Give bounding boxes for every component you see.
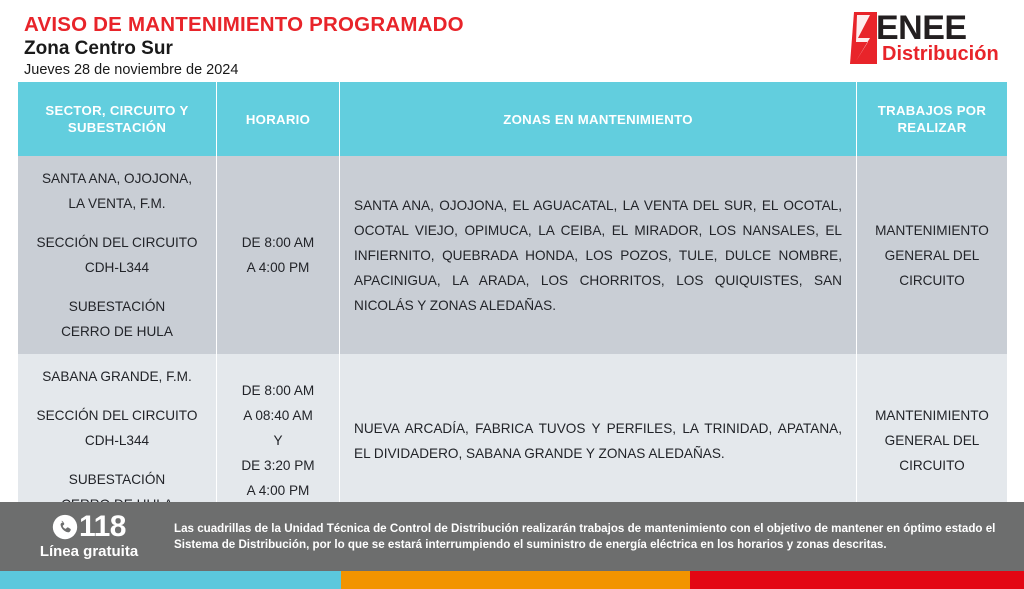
maintenance-table-wrapper: SECTOR, CIRCUITO Y SUBESTACIÓN HORARIO Z… (17, 82, 1007, 527)
column-header-sector: SECTOR, CIRCUITO Y SUBESTACIÓN (18, 82, 216, 156)
phone-icon (52, 514, 78, 540)
colorbar-segment-orange (341, 571, 690, 589)
hotline-number: 118 (79, 512, 126, 542)
page-title: AVISO DE MANTENIMIENTO PROGRAMADO (24, 13, 464, 36)
horario-line: A 08:40 AM (231, 403, 325, 428)
logo-subtitle-text: Distribución (882, 43, 999, 65)
enee-flag-icon (850, 12, 877, 64)
table-body: SANTA ANA, OJOJONA, LA VENTA, F.M. SECCI… (18, 156, 1007, 527)
table-header-row: SECTOR, CIRCUITO Y SUBESTACIÓN HORARIO Z… (18, 82, 1007, 156)
page-footer: 118 Línea gratuita Las cuadrillas de la … (0, 502, 1024, 571)
trabajos-line: CIRCUITO (899, 273, 964, 288)
column-header-zonas: ZONAS EN MANTENIMIENTO (340, 82, 856, 156)
trabajos-line: CIRCUITO (899, 458, 964, 473)
horario-line: DE 8:00 AM (231, 230, 325, 255)
notice-date: Jueves 28 de noviembre de 2024 (24, 61, 464, 79)
sector-line: SECCIÓN DEL CIRCUITO (37, 408, 198, 423)
column-header-horario: HORARIO (217, 82, 339, 156)
hotline-label: Línea gratuita (4, 543, 174, 561)
spacer (32, 453, 202, 467)
sector-line: CDH-L344 (85, 260, 149, 275)
cell-horario: DE 8:00 AM A 4:00 PM (217, 156, 339, 354)
horario-line: Y (231, 428, 325, 453)
cell-trabajos: MANTENIMIENTO GENERAL DEL CIRCUITO (857, 156, 1007, 354)
sector-line: SANTA ANA, OJOJONA, (42, 171, 192, 186)
page-header: AVISO DE MANTENIMIENTO PROGRAMADO Zona C… (0, 0, 1024, 78)
cell-sector: SANTA ANA, OJOJONA, LA VENTA, F.M. SECCI… (18, 156, 216, 354)
sector-line: SECCIÓN DEL CIRCUITO (37, 235, 198, 250)
zone-subtitle: Zona Centro Sur (24, 37, 464, 60)
sector-line: CERRO DE HULA (61, 324, 173, 339)
maintenance-table: SECTOR, CIRCUITO Y SUBESTACIÓN HORARIO Z… (17, 82, 1008, 527)
trabajos-line: GENERAL DEL (885, 433, 980, 448)
sector-line: CDH-L344 (85, 433, 149, 448)
bottom-color-bar (0, 571, 1024, 589)
sector-line: LA VENTA, F.M. (68, 196, 165, 211)
logo-brand-text: ENEE (876, 10, 967, 46)
horario-line: A 4:00 PM (231, 255, 325, 280)
horario-line: A 4:00 PM (231, 478, 325, 503)
sector-line: SUBESTACIÓN (69, 299, 165, 314)
sector-line: SABANA GRANDE, F.M. (42, 369, 192, 384)
enee-logo: ENEE Distribución (850, 10, 1010, 68)
spacer (32, 280, 202, 294)
colorbar-segment-red (690, 571, 1024, 589)
trabajos-line: GENERAL DEL (885, 248, 980, 263)
header-title-group: AVISO DE MANTENIMIENTO PROGRAMADO Zona C… (24, 13, 464, 79)
column-header-trabajos: TRABAJOS POR REALIZAR (857, 82, 1007, 156)
hotline-block: 118 Línea gratuita (0, 512, 174, 561)
horario-line: DE 8:00 AM (231, 378, 325, 403)
trabajos-line: MANTENIMIENTO (875, 223, 989, 238)
spacer (32, 389, 202, 403)
trabajos-line: MANTENIMIENTO (875, 408, 989, 423)
table-row: SANTA ANA, OJOJONA, LA VENTA, F.M. SECCI… (18, 156, 1007, 354)
cell-zonas: SANTA ANA, OJOJONA, EL AGUACATAL, LA VEN… (340, 156, 856, 354)
hotline-number-row: 118 (4, 512, 174, 542)
horario-line: DE 3:20 PM (231, 453, 325, 478)
footer-notice-text: Las cuadrillas de la Unidad Técnica de C… (174, 521, 1024, 553)
table-header: SECTOR, CIRCUITO Y SUBESTACIÓN HORARIO Z… (18, 82, 1007, 156)
sector-line: SUBESTACIÓN (69, 472, 165, 487)
spacer (32, 216, 202, 230)
colorbar-segment-cyan (0, 571, 341, 589)
